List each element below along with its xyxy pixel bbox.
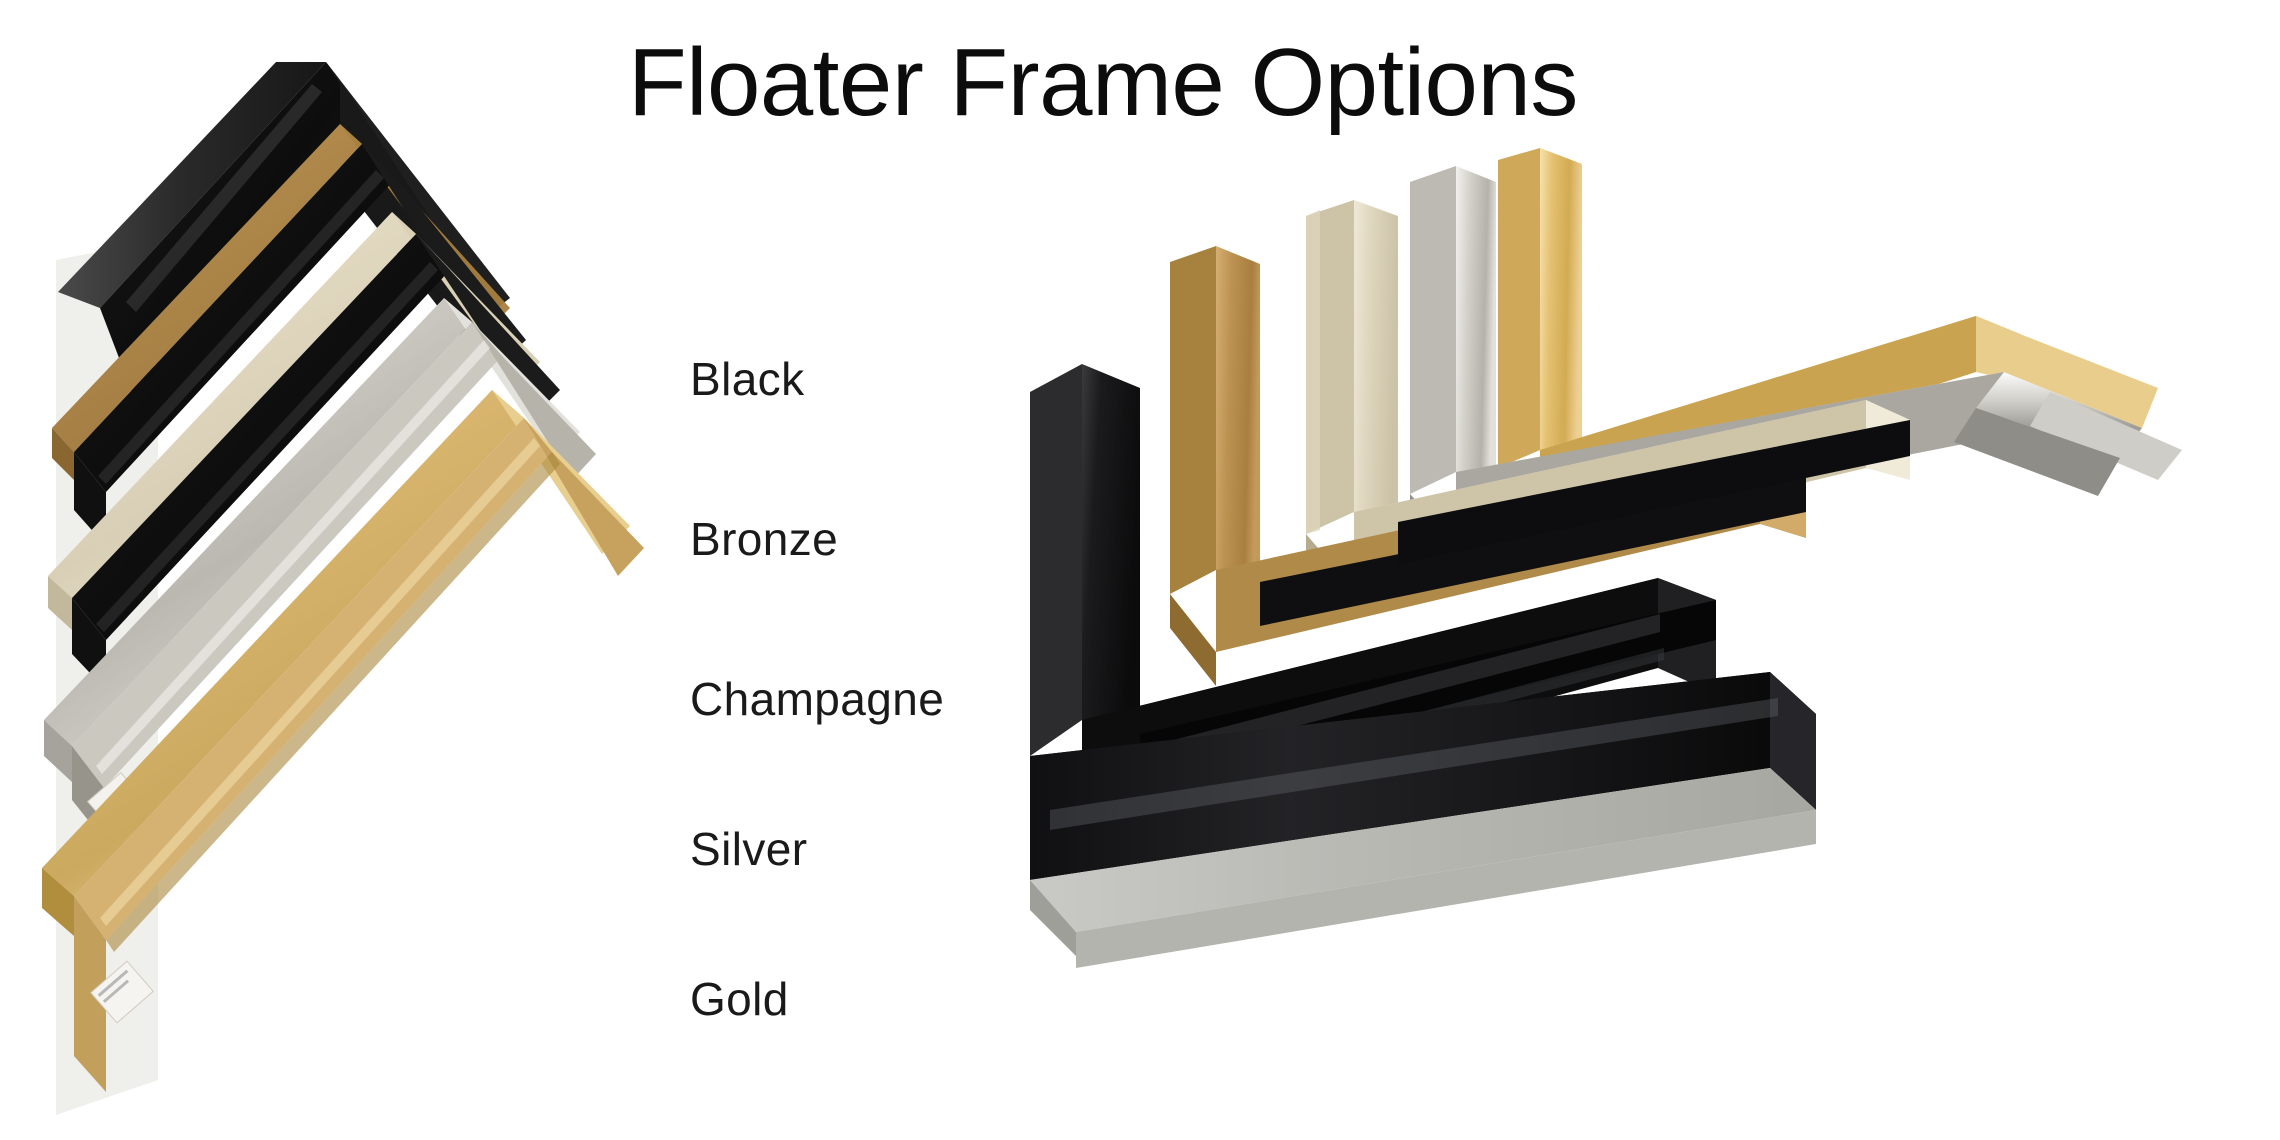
perspective-stack-svg	[1010, 120, 2280, 1140]
label-gold: Gold	[690, 972, 789, 1026]
label-black: Black	[690, 352, 804, 406]
label-champagne: Champagne	[690, 672, 944, 726]
label-silver: Silver	[690, 822, 807, 876]
label-bronze: Bronze	[690, 512, 838, 566]
right-frame-stack-photo	[1010, 120, 2280, 1140]
slide-canvas: Floater Frame Options	[0, 0, 2280, 1140]
